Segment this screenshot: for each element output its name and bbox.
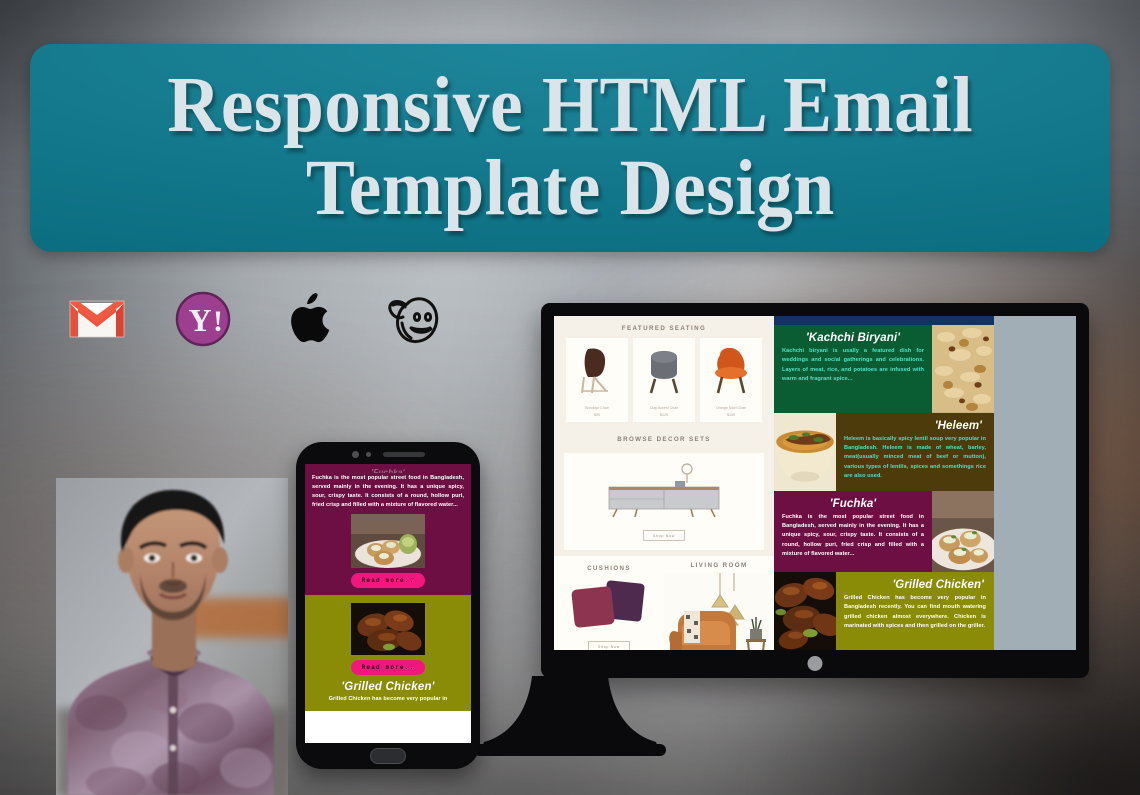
page-title-line-1: Responsive HTML Email (167, 68, 973, 145)
phone-section-grilled-chicken: Read more.. 'Grilled Chicken' Grilled Ch… (305, 595, 471, 711)
decor-email-template[interactable]: FEATURED SEATING Brooklyn Chair $99 (554, 316, 774, 650)
decor-chair-card[interactable]: Orange Swirl Chair $149 (700, 338, 762, 422)
decor-chair-row: Brooklyn Chair $99 Clay Accent Chair $12… (554, 338, 774, 422)
decor-chair-price: $99 (569, 413, 625, 418)
decor-sideboard-card[interactable]: Shop Now (564, 453, 764, 550)
desktop-monitor-mockup: FEATURED SEATING Brooklyn Chair $99 (541, 303, 1089, 678)
phone-fuchka-title-clipped: 'Fuchka' (311, 468, 465, 473)
food-grilled-chicken-body: Grilled Chicken has become very popular … (844, 594, 986, 632)
food-fuchka-body: Fuchka is the most popular street food i… (782, 513, 924, 560)
decor-featured-seating-heading: FEATURED SEATING (554, 316, 774, 338)
gmail-icon: Gmail (66, 288, 128, 350)
food-heleem-body: Heleem is basically spicy lentil soup ve… (844, 435, 986, 482)
food-kachchi-biryani-body: Kachchi biryani is usally a featured dis… (782, 347, 924, 385)
tan-armchair-scene-icon (664, 573, 770, 650)
email-client-logos: Gmail Y ! Y! Apple Mail (66, 288, 446, 350)
apple-icon: Apple Mail (278, 288, 340, 350)
food-email-template[interactable]: 'Kachchi Biryani' Kachchi biryani is usa… (774, 316, 994, 650)
decor-chair-price: $129 (636, 413, 692, 418)
decor-chair-card[interactable]: Clay Accent Chair $129 (633, 338, 695, 422)
decor-bottom-columns: CUSHIONS Shop Now SIDE TABLES (554, 556, 774, 650)
maroon-purple-cushions-icon (565, 576, 653, 630)
food-item-heleem: 'Heleem' Heleem is basically spicy lenti… (774, 413, 994, 491)
decor-chair-caption: Brooklyn Chair (569, 406, 625, 411)
phone-speaker-icon (383, 452, 425, 457)
svg-text:!: ! (213, 305, 223, 338)
biryani-rice-image (932, 325, 994, 413)
page-title-line-2: Template Design (306, 151, 835, 228)
decor-living-room-heading: LIVING ROOM (664, 559, 774, 573)
svg-text:Y: Y (188, 302, 211, 338)
presenter-photo (56, 478, 288, 795)
decor-chair-card[interactable]: Brooklyn Chair $99 (566, 338, 628, 422)
phone-sensor-icon (366, 452, 371, 457)
phone-home-button[interactable] (370, 748, 406, 764)
phone-grilled-chicken-title: 'Grilled Chicken' (311, 681, 465, 693)
decor-browse-decor-sets-heading: BROWSE DECOR SETS (554, 422, 774, 449)
decor-chair-caption: Orange Swirl Chair (703, 406, 759, 411)
grilled-chicken-image (774, 572, 836, 650)
food-grilled-chicken-title: 'Grilled Chicken' (844, 579, 986, 591)
fuchka-plate-image (932, 491, 994, 572)
food-item-fuchka: 'Fuchka' Fuchka is the most popular stre… (774, 491, 994, 572)
monitor-stand (460, 676, 680, 758)
food-item-grilled-chicken: 'Grilled Chicken' Grilled Chicken has be… (774, 572, 994, 650)
food-heleem-title: 'Heleem' (844, 420, 986, 432)
decor-cushions-heading: CUSHIONS (557, 562, 661, 576)
phone-grilled-chicken-read-more-button[interactable]: Read more.. (351, 660, 425, 675)
phone-fuchka-image (351, 514, 425, 568)
sideboard-credenza-icon (589, 461, 739, 519)
phone-fuchka-body: Fuchka is the most popular street food i… (311, 474, 465, 510)
gray-tub-chair-icon (637, 343, 691, 399)
monitor-screen[interactable]: FEATURED SEATING Brooklyn Chair $99 (554, 316, 1076, 650)
phone-fuchka-read-more-button[interactable]: Read more.. (351, 573, 425, 588)
decor-living-room-column[interactable]: LIVING ROOM (664, 556, 774, 650)
food-kachchi-biryani-title: 'Kachchi Biryani' (782, 332, 924, 344)
monitor-power-button[interactable] (808, 656, 823, 671)
phone-grilled-chicken-image (351, 603, 425, 655)
food-item-kachchi-biryani: 'Kachchi Biryani' Kachchi biryani is usa… (774, 325, 994, 413)
decor-chair-caption: Clay Accent Chair (636, 406, 692, 411)
phone-grilled-chicken-body: Grilled Chicken has become very popular … (311, 695, 465, 704)
monitor-bezel: FEATURED SEATING Brooklyn Chair $99 (541, 303, 1089, 678)
yahoo-icon: Y ! Y! (172, 288, 234, 350)
title-banner: Responsive HTML Email Template Design (30, 44, 1110, 252)
phone-screen[interactable]: 'Fuchka' Fuchka is the most popular stre… (305, 464, 471, 743)
phone-section-fuchka: 'Fuchka' Fuchka is the most popular stre… (305, 464, 471, 595)
mailchimp-icon: Mailchimp (384, 288, 446, 350)
decor-chair-price: $149 (703, 413, 759, 418)
food-email-header-bar (774, 316, 994, 325)
orange-lounge-chair-icon (704, 343, 758, 399)
food-fuchka-title: 'Fuchka' (782, 498, 924, 510)
phone-top-sensors (296, 451, 480, 458)
heleem-soup-bowl-image (774, 413, 836, 491)
decor-sideboard-shop-now-button[interactable]: Shop Now (643, 530, 685, 541)
phone-camera-icon (352, 451, 359, 458)
decor-cushions-column[interactable]: CUSHIONS Shop Now SIDE TABLES (554, 556, 664, 650)
brown-shell-chair-icon (570, 343, 624, 399)
smartphone-mockup: 'Fuchka' Fuchka is the most popular stre… (296, 442, 480, 769)
decor-cushions-shop-now-button[interactable]: Shop Now (588, 641, 630, 650)
